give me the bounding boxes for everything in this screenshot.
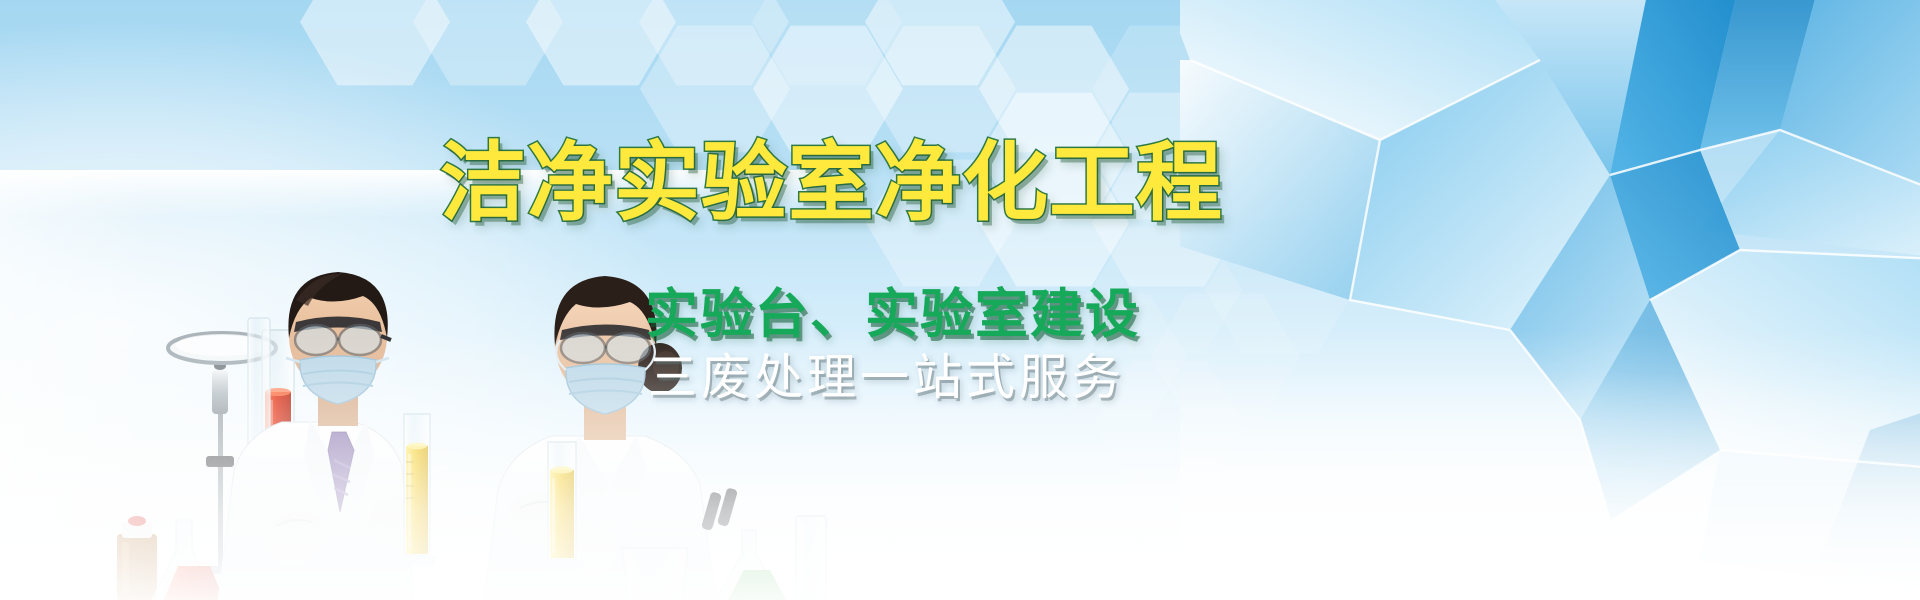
banner-copy: 洁净实验室净化工程 实验台、实验室建设 三废处理一站式服务 — [0, 0, 1920, 600]
banner-tagline: 三废处理一站式服务 — [648, 354, 1208, 403]
promo-banner: 洁净实验室净化工程 实验台、实验室建设 三废处理一站式服务 — [0, 0, 1920, 600]
banner-headline: 洁净实验室净化工程 — [440, 140, 1200, 226]
banner-subheadline: 实验台、实验室建设 — [645, 288, 1205, 341]
